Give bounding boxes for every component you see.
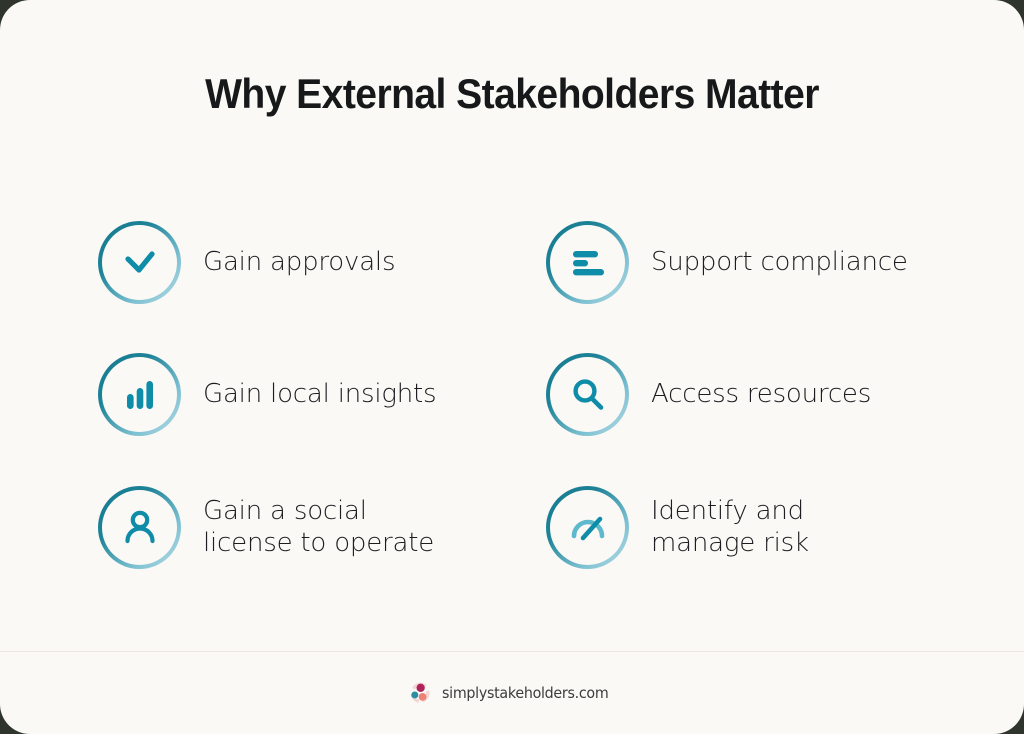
benefit-label: Support compliance bbox=[651, 246, 908, 278]
footer: simplystakeholders.com bbox=[0, 651, 1024, 734]
check-icon bbox=[98, 221, 181, 304]
benefit-label: Gain approvals bbox=[203, 246, 395, 278]
benefit-item-access-resources: Access resources bbox=[546, 327, 994, 462]
person-icon bbox=[98, 486, 181, 569]
benefit-item-manage-risk: Identify and manage risk bbox=[546, 462, 994, 592]
benefit-label: Gain local insights bbox=[203, 378, 436, 410]
speedometer-icon bbox=[546, 486, 629, 569]
document-lines-icon bbox=[546, 221, 629, 304]
title-area: Why External Stakeholders Matter bbox=[0, 70, 1024, 118]
benefit-item-support-compliance: Support compliance bbox=[546, 197, 994, 327]
benefit-label: Access resources bbox=[651, 378, 871, 410]
benefit-label: Gain a social license to operate bbox=[203, 495, 434, 559]
infographic-card: Why External Stakeholders Matter Gain ap… bbox=[0, 0, 1024, 734]
benefit-label: Identify and manage risk bbox=[651, 495, 809, 559]
magnifier-icon bbox=[546, 353, 629, 436]
footer-site-label: simplystakeholders.com bbox=[442, 684, 608, 702]
benefit-item-social-license: Gain a social license to operate bbox=[98, 462, 546, 592]
page-title: Why External Stakeholders Matter bbox=[36, 70, 988, 118]
benefits-grid: Gain approvals Support compliance bbox=[0, 197, 1024, 592]
benefit-item-gain-local-insights: Gain local insights bbox=[98, 327, 546, 462]
benefit-item-gain-approvals: Gain approvals bbox=[98, 197, 546, 327]
bar-chart-icon bbox=[98, 353, 181, 436]
simply-stakeholders-logo bbox=[407, 680, 433, 706]
